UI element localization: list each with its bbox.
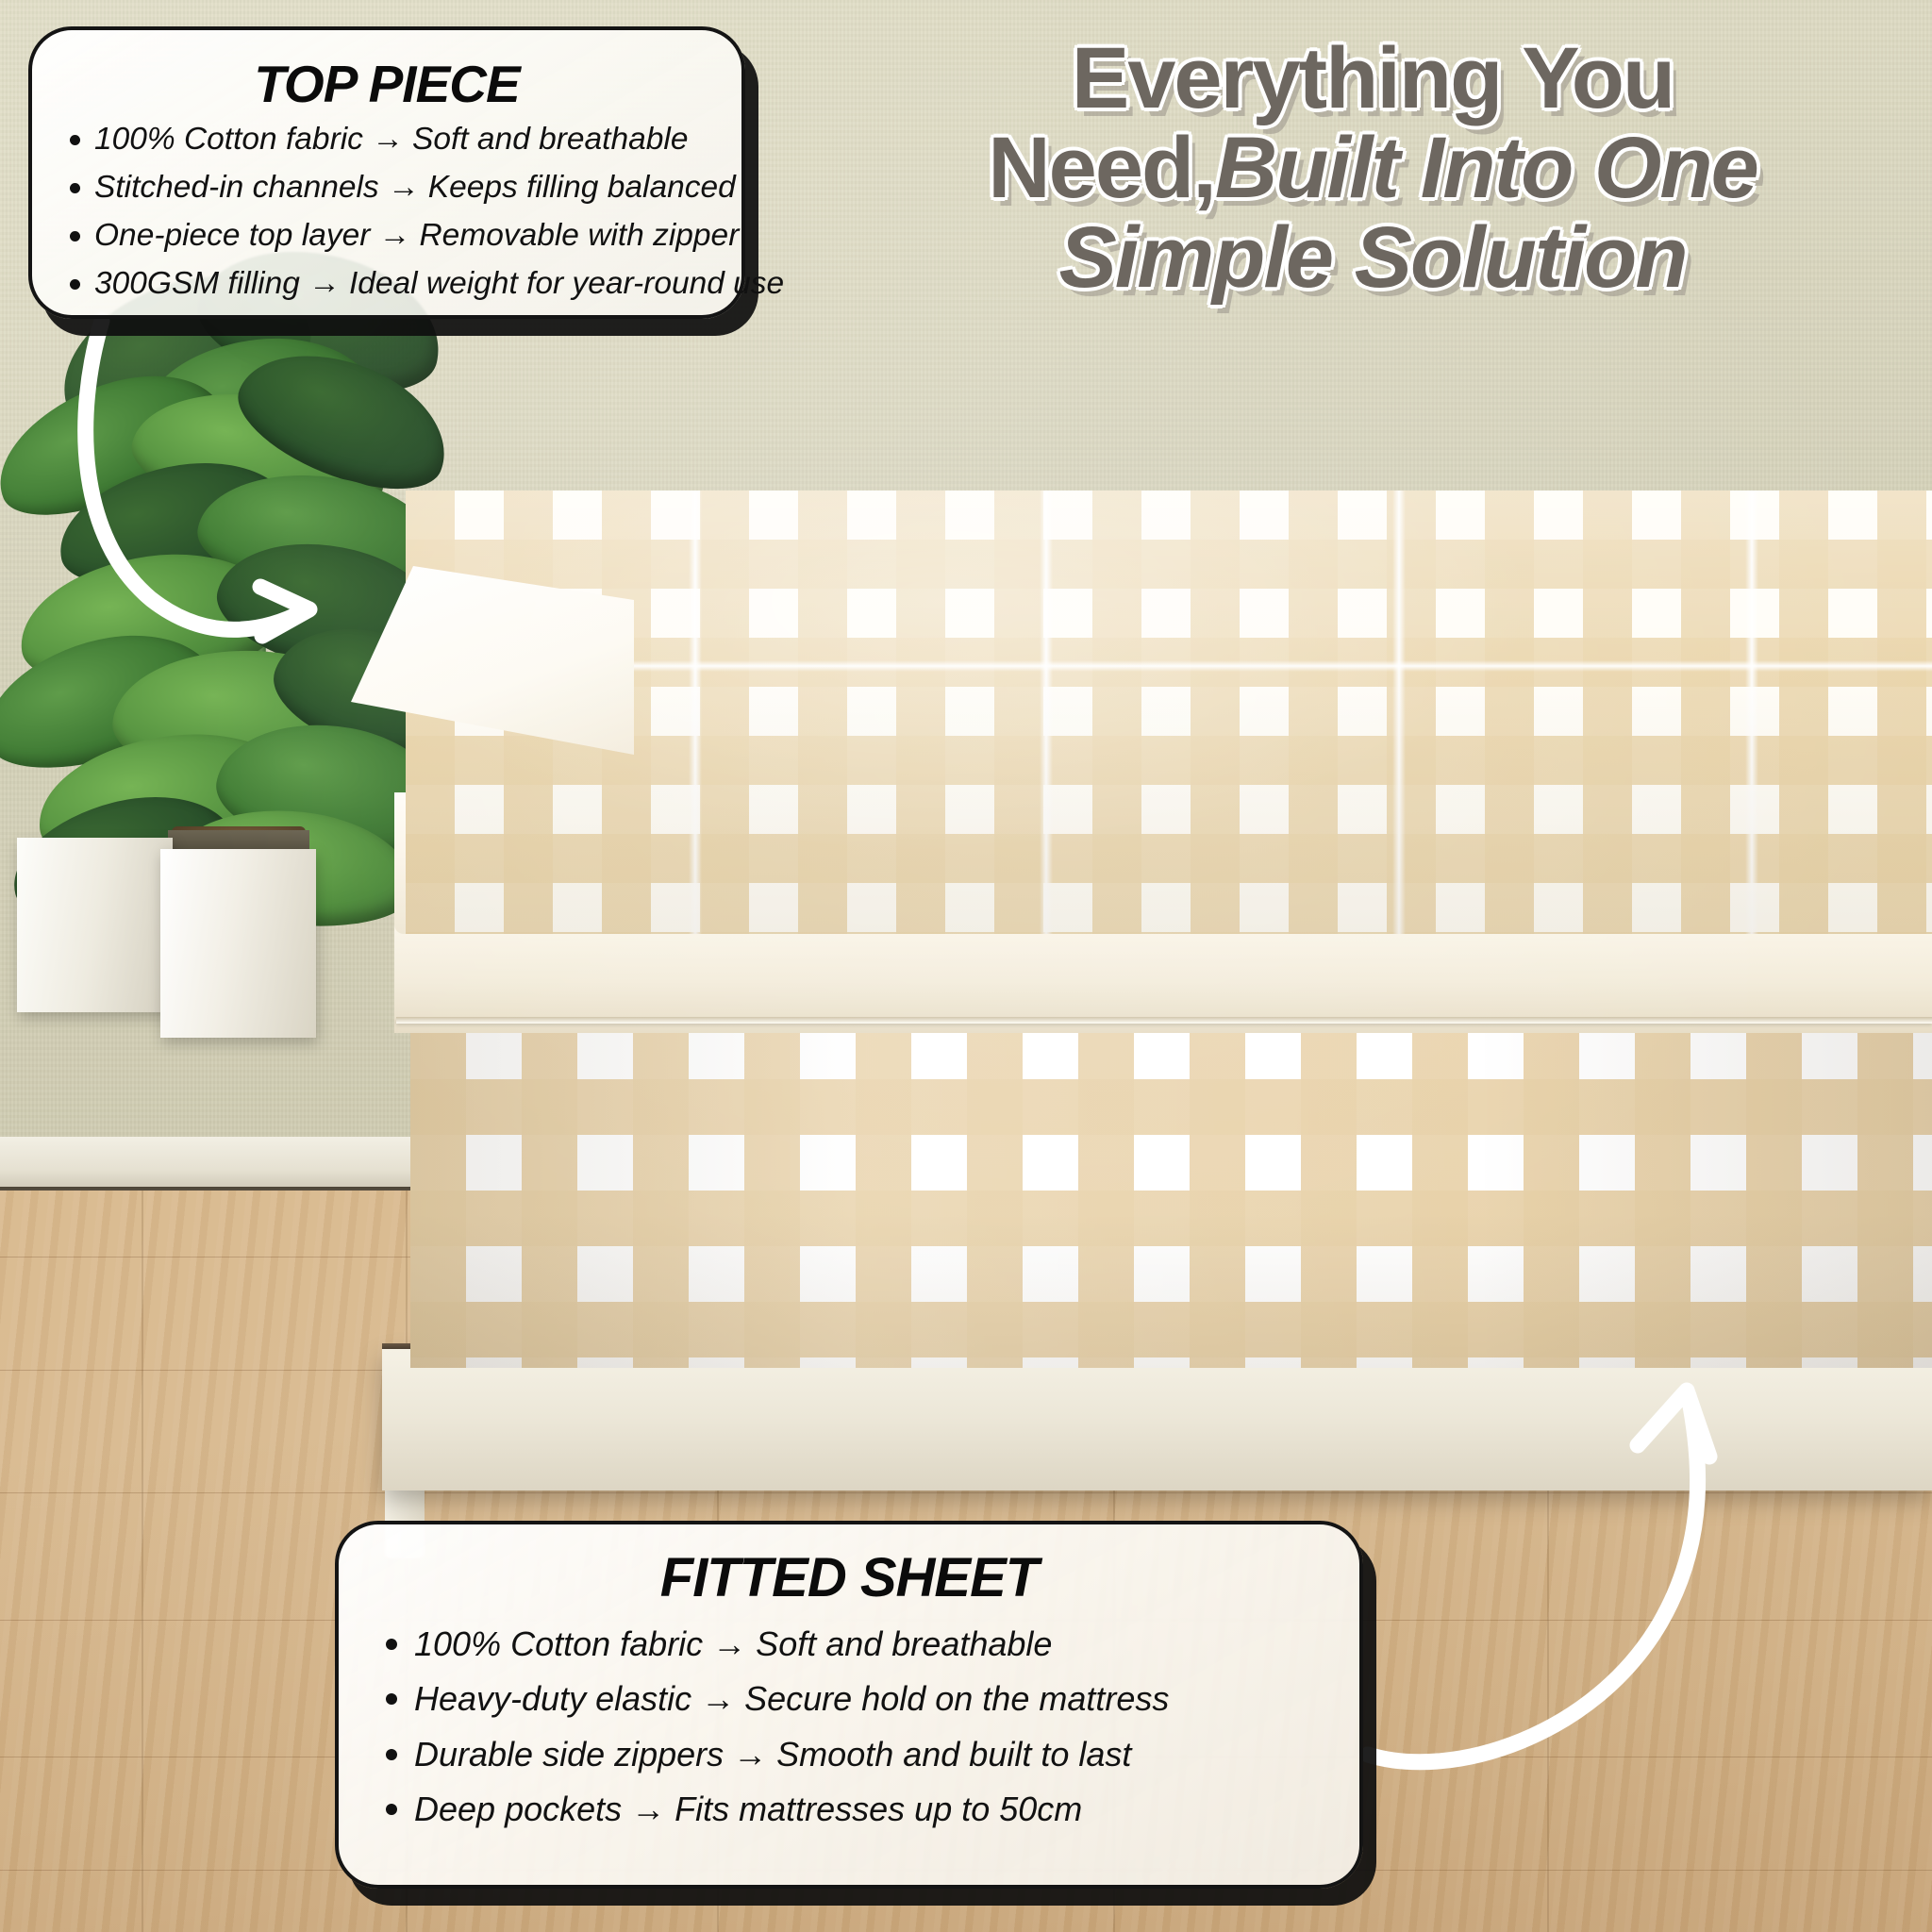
feature-list-top-piece: 100% Cotton fabric → Soft and breathable… [57,116,717,308]
fitted-sheet-zip-band [394,920,1932,1033]
card-title-top-piece: TOP PIECE [57,58,717,110]
planter-pot-back [17,838,173,1012]
page-headline: Everything You Need,Built Into One Simpl… [830,34,1915,302]
bed-frame [382,1349,1932,1491]
list-item: Durable side zippers → Smooth and built … [371,1727,1327,1782]
feature-list-fitted-sheet: 100% Cotton fabric → Soft and breathable… [371,1617,1327,1837]
list-item: 300GSM filling → Ideal weight for year-r… [57,260,717,308]
fitted-sheet-gingham [410,1024,1932,1368]
headline-line-2-plain: Need, [988,120,1215,216]
list-item: Heavy-duty elastic → Secure hold on the … [371,1672,1327,1726]
list-item: 100% Cotton fabric → Soft and breathable [57,116,717,164]
top-piece-topper [406,491,1932,934]
list-item: 100% Cotton fabric → Soft and breathable [371,1617,1327,1672]
card-title-fitted-sheet: FITTED SHEET [371,1551,1327,1606]
side-zipper [396,1017,1932,1024]
info-card-fitted-sheet: FITTED SHEET 100% Cotton fabric → Soft a… [335,1521,1363,1889]
headline-line-2: Need,Built Into One [830,124,1915,213]
infographic-canvas: Everything You Need,Built Into One Simpl… [0,0,1932,1932]
planter-pot [160,849,316,1038]
info-card-top-piece: TOP PIECE 100% Cotton fabric → Soft and … [28,26,745,319]
headline-line-2-italic: Built Into One [1215,120,1757,216]
list-item: Stitched-in channels → Keeps filling bal… [57,164,717,212]
list-item: Deep pockets → Fits mattresses up to 50c… [371,1782,1327,1837]
headline-line-3: Simple Solution [830,213,1915,303]
list-item: One-piece top layer → Removable with zip… [57,212,717,260]
headline-line-1: Everything You [830,34,1915,124]
